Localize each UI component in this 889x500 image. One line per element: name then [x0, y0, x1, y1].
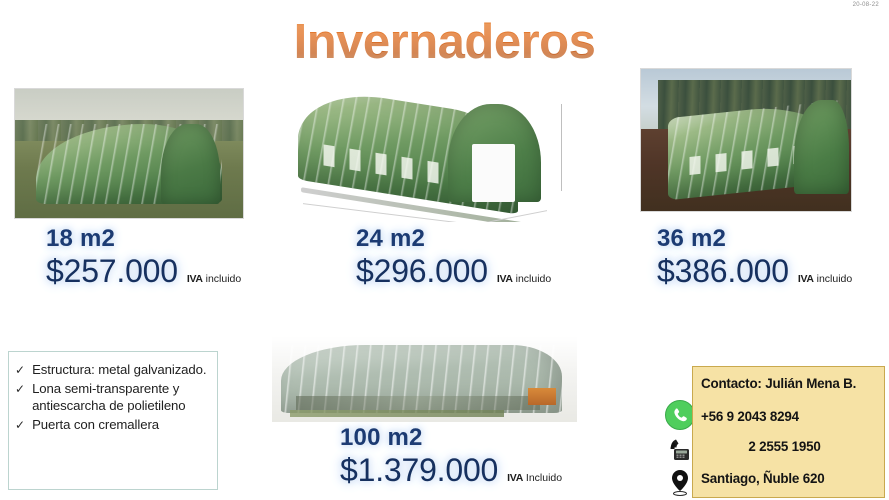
contact-address: Santiago, Ñuble 620 [701, 472, 876, 487]
price-36m2: $386.000 [657, 253, 789, 290]
grass-foreground [290, 410, 504, 417]
price-row-18m2: $257.000 IVA incluido [46, 253, 241, 290]
iva-abbr: IVA [187, 273, 203, 285]
slide-canvas: 20-08-22 Invernaderos 18 m2 $257.000 IVA… [0, 0, 889, 500]
price-18m2: $257.000 [46, 253, 178, 290]
greenhouse-photo-36m2 [640, 68, 852, 212]
iva-abbr: IVA [798, 273, 814, 285]
check-icon: ✓ [15, 361, 25, 378]
price-row-100m2: $1.379.000 IVA Incluido [340, 452, 562, 489]
page-title: Invernaderos [0, 14, 889, 70]
iva-note-36m2: IVA incluido [798, 273, 852, 285]
greenhouse-photo-100m2 [272, 336, 577, 422]
area-label-100m2: 100 m2 [340, 424, 562, 452]
area-label-36m2: 36 m2 [657, 225, 852, 253]
area-label-18m2: 18 m2 [46, 225, 241, 253]
greenhouse-end-wall [161, 124, 220, 204]
price-block-18m2: 18 m2 $257.000 IVA incluido [46, 225, 241, 289]
orange-building [528, 388, 555, 405]
greenhouse-near-arch [794, 100, 849, 194]
check-icon: ✓ [15, 380, 25, 397]
price-row-36m2: $386.000 IVA incluido [657, 253, 852, 290]
feature-text: Estructura: metal galvanizado. [32, 361, 206, 379]
interior-detail [296, 396, 540, 410]
feature-item: ✓ Puerta con cremallera [15, 416, 209, 434]
render-scene [286, 82, 576, 222]
photo-scene [272, 336, 577, 422]
greenhouse-render-24m2 [286, 82, 576, 222]
price-block-36m2: 36 m2 $386.000 IVA incluido [657, 225, 852, 289]
iva-word: incluido [516, 273, 552, 285]
iva-note-24m2: IVA incluido [497, 273, 551, 285]
iva-abbr: IVA [507, 472, 523, 484]
iva-word: incluido [206, 273, 242, 285]
iva-abbr: IVA [497, 273, 513, 285]
contact-phone-number[interactable]: 2 2555 1950 [701, 440, 876, 455]
iva-note-18m2: IVA incluido [187, 273, 241, 285]
contact-card: Contacto: Julián Mena B. +56 9 2043 8294… [692, 366, 885, 498]
feature-item: ✓ Estructura: metal galvanizado. [15, 361, 209, 379]
price-24m2: $296.000 [356, 253, 488, 290]
photo-scene [15, 89, 243, 218]
photo-scene [641, 69, 851, 211]
feature-item: ✓ Lona semi-transparente y antiescarcha … [15, 380, 209, 415]
render-door-opening [472, 144, 516, 203]
feature-text: Puerta con cremallera [32, 416, 159, 434]
date-stamp: 20-08-22 [853, 2, 879, 8]
check-icon: ✓ [15, 416, 25, 433]
price-100m2: $1.379.000 [340, 452, 498, 489]
contact-whatsapp-number[interactable]: +56 9 2043 8294 [701, 410, 876, 425]
iva-word: incluido [817, 273, 853, 285]
feature-text: Lona semi-transparente y antiescarcha de… [32, 380, 209, 415]
price-block-24m2: 24 m2 $296.000 IVA incluido [356, 225, 551, 289]
dimension-line-height [561, 104, 562, 191]
greenhouse-photo-18m2 [14, 88, 244, 219]
price-row-24m2: $296.000 IVA incluido [356, 253, 551, 290]
features-card: ✓ Estructura: metal galvanizado. ✓ Lona … [8, 351, 218, 490]
contact-name: Contacto: Julián Mena B. [701, 377, 876, 392]
area-label-24m2: 24 m2 [356, 225, 551, 253]
price-block-100m2: 100 m2 $1.379.000 IVA Incluido [340, 424, 562, 488]
iva-word: Incluido [526, 472, 562, 484]
iva-note-100m2: IVA Incluido [507, 472, 562, 484]
